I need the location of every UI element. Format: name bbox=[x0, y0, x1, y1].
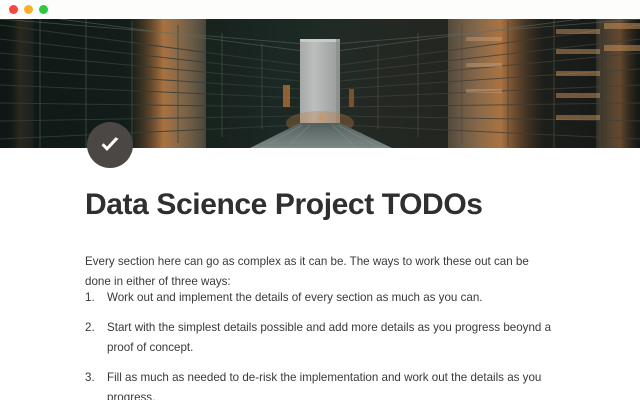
window-controls bbox=[9, 5, 48, 14]
list-item-text: Work out and implement the details of ev… bbox=[107, 288, 555, 308]
document-page: Data Science Project TODOs Every section… bbox=[0, 148, 640, 400]
list-item-number: 1. bbox=[85, 288, 107, 308]
list-item-text: Start with the simplest details possible… bbox=[107, 318, 555, 358]
page-icon-badge[interactable] bbox=[87, 122, 133, 168]
window-titlebar bbox=[0, 0, 640, 19]
list-item-text: Fill as much as needed to de-risk the im… bbox=[107, 368, 555, 400]
page-title: Data Science Project TODOs bbox=[85, 188, 483, 222]
app-window: Data Science Project TODOs Every section… bbox=[0, 0, 640, 400]
list-item-number: 2. bbox=[85, 318, 107, 338]
list-item: 3. Fill as much as needed to de-risk the… bbox=[85, 368, 555, 400]
list-item: 1. Work out and implement the details of… bbox=[85, 288, 555, 308]
list-item: 2. Start with the simplest details possi… bbox=[85, 318, 555, 358]
todo-list: 1. Work out and implement the details of… bbox=[85, 288, 555, 400]
close-button[interactable] bbox=[9, 5, 18, 14]
list-item-number: 3. bbox=[85, 368, 107, 388]
minimize-button[interactable] bbox=[24, 5, 33, 14]
intro-paragraph: Every section here can go as complex as … bbox=[85, 252, 547, 292]
check-icon bbox=[97, 132, 123, 158]
maximize-button[interactable] bbox=[39, 5, 48, 14]
